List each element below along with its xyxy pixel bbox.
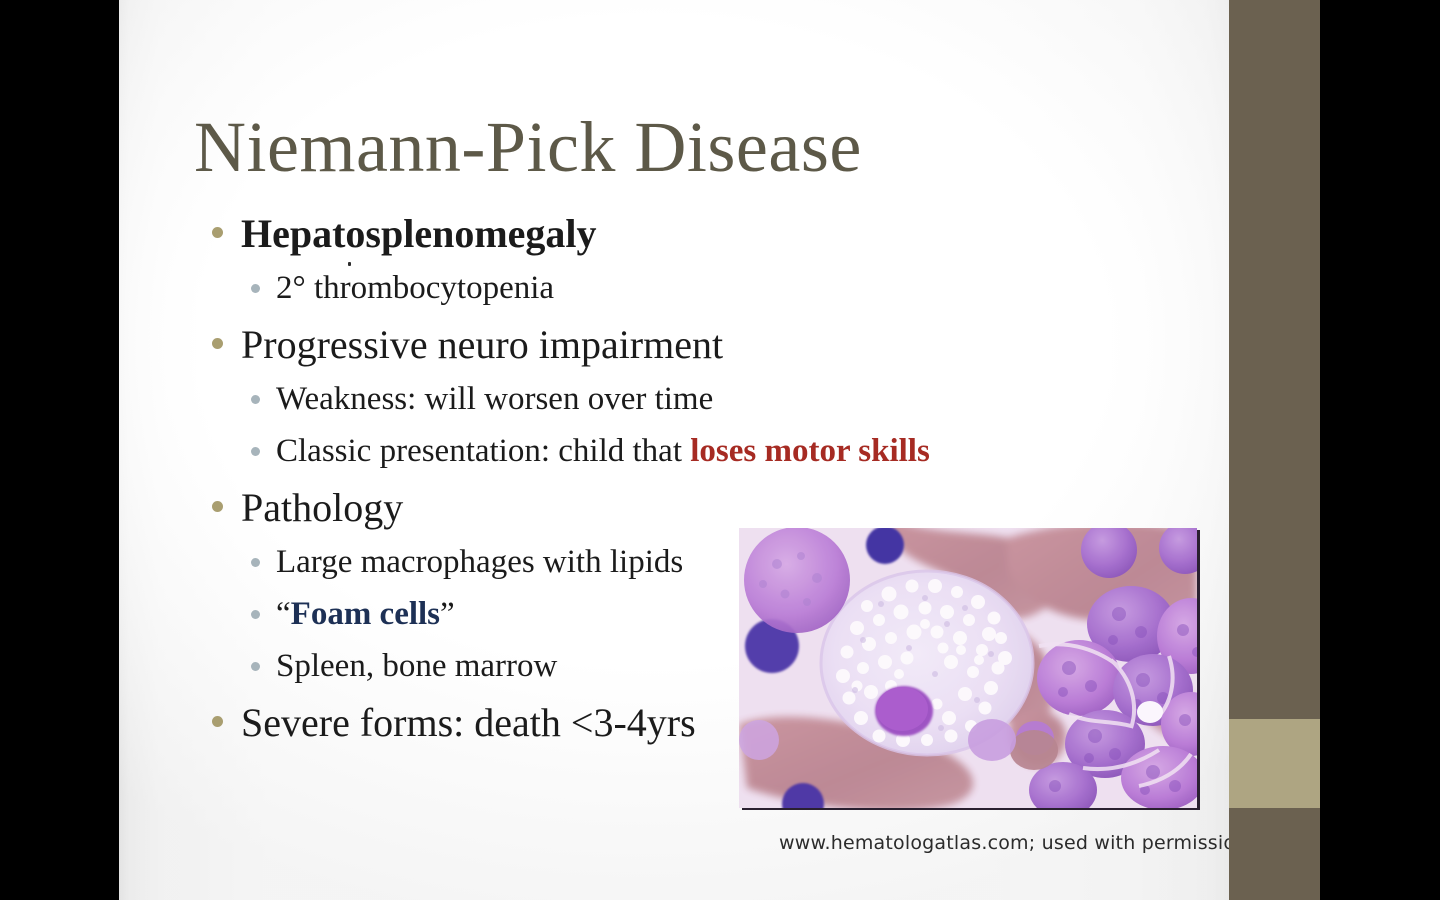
classic-presentation-lead: Classic presentation: child that — [276, 433, 690, 469]
slide-stage: Niemann-Pick Disease Hepatosplenomegaly … — [0, 0, 1440, 900]
list-item: Weakness: will worsen over time — [197, 373, 1157, 425]
bullet-marker-level1-icon — [212, 338, 223, 349]
bullet-marker-level2-icon — [251, 558, 260, 567]
list-item: 2° thrombocytopenia — [197, 262, 1157, 314]
bullet-text-spleen-bone-marrow: Spleen, bone marrow — [276, 640, 557, 692]
bullet-marker-level1-icon — [212, 501, 223, 512]
bullet-marker-level2-icon — [251, 284, 260, 293]
bullet-marker-level2-icon — [251, 447, 260, 456]
bullet-marker-level1-icon — [212, 716, 223, 727]
letterbox-left — [0, 0, 119, 900]
bullet-marker-level2-icon — [251, 395, 260, 404]
bullet-text-foam-cells: “Foam cells” — [276, 588, 455, 640]
theme-accent-block — [1229, 719, 1320, 808]
foam-cells-highlight: Foam cells — [291, 596, 440, 632]
bullet-text-pathology: Pathology — [241, 480, 403, 536]
bullet-text-severe-forms: Severe forms: death <3-4yrs — [241, 695, 696, 751]
bullet-text-progressive-neuro-impairment: Progressive neuro impairment — [241, 317, 723, 373]
micrograph-artwork — [739, 528, 1197, 808]
foam-cells-quote-open: “ — [276, 596, 291, 632]
figure-caption: www.hematologatlas.com; used with permis… — [779, 832, 1229, 854]
presentation-slide: Niemann-Pick Disease Hepatosplenomegaly … — [119, 0, 1229, 900]
letterbox-right — [1320, 0, 1440, 900]
list-item: Classic presentation: child that loses m… — [197, 425, 1157, 477]
bullet-marker-level1-icon — [212, 227, 223, 238]
bone-marrow-foam-cell-micrograph — [739, 528, 1197, 808]
classic-presentation-highlight: loses motor skills — [690, 433, 930, 469]
foam-cells-quote-close: ” — [440, 596, 455, 632]
bullet-text-classic-presentation: Classic presentation: child that loses m… — [276, 425, 930, 477]
bullet-marker-level2-icon — [251, 662, 260, 671]
bullet-text-thrombocytopenia: 2° thrombocytopenia — [276, 262, 554, 314]
bullet-marker-level2-icon — [251, 610, 260, 619]
figure-container — [739, 528, 1197, 808]
bullet-text-weakness: Weakness: will worsen over time — [276, 373, 713, 425]
page-title: Niemann-Pick Disease — [194, 110, 862, 186]
list-item: Hepatosplenomegaly — [197, 206, 1157, 262]
bullet-text-large-macrophages: Large macrophages with lipids — [276, 536, 683, 588]
bullet-text-hepatosplenomegaly: Hepatosplenomegaly — [241, 206, 597, 262]
list-item: Progressive neuro impairment — [197, 317, 1157, 373]
